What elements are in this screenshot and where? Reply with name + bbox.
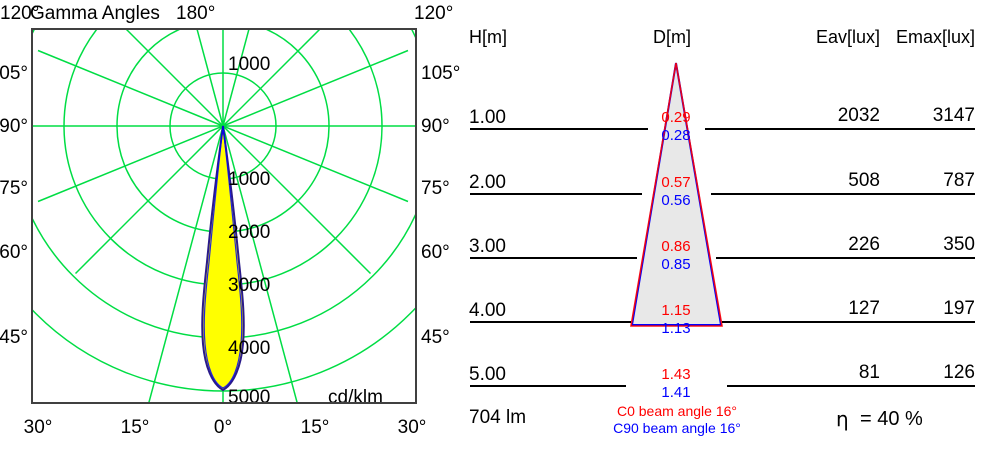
table-row-3-rule-left xyxy=(470,257,637,259)
polar-bottom-angle-15-right: 15° xyxy=(285,418,345,437)
table-row-1-rule-left xyxy=(470,128,648,130)
photometric-report: 120° Gamma Angles 180° 120° 105° 90° 75°… xyxy=(0,0,990,450)
polar-diagram-panel: 120° Gamma Angles 180° 120° 105° 90° 75°… xyxy=(0,0,455,450)
table-row-4-d-c0: 1.15 xyxy=(641,303,711,318)
table-row-2-eav: 508 xyxy=(800,171,880,190)
table-row-5-h: 5.00 xyxy=(469,365,506,384)
table-row-2-d-c0: 0.57 xyxy=(641,175,711,190)
polar-left-angle-60: 60° xyxy=(0,243,28,262)
polar-grid-svg xyxy=(33,30,415,402)
table-row-4-d-c90: 1.13 xyxy=(641,321,711,336)
polar-ring-label-5000: 5000 xyxy=(228,388,270,404)
table-row-3-d-c90: 0.85 xyxy=(641,257,711,272)
polar-top-center-angle-label: 180° xyxy=(176,4,215,23)
table-row-3-d-c0: 0.86 xyxy=(641,239,711,254)
table-row-1-d-c0: 0.29 xyxy=(641,110,711,125)
table-row-5-d-c0: 1.43 xyxy=(641,367,711,382)
polar-left-angle-45: 45° xyxy=(0,328,28,347)
polar-left-angle-75: 75° xyxy=(0,179,28,198)
efficiency-value: = 40 % xyxy=(860,409,923,429)
table-row-4-rule-right xyxy=(722,321,975,323)
polar-bottom-angle-15-left: 15° xyxy=(105,418,165,437)
cone-table-panel: H[m] D[m] Eav[lux] Emax[lux] 1.00 0.29 0… xyxy=(455,0,990,450)
efficiency-symbol: η xyxy=(836,409,849,429)
beam-angle-c0-label: C0 beam angle 16° xyxy=(527,404,827,418)
table-row-4-emax: 197 xyxy=(889,299,975,318)
table-row-3-rule-right xyxy=(716,257,975,259)
table-row-4-eav: 127 xyxy=(800,299,880,318)
polar-left-angle-90: 90° xyxy=(0,117,28,136)
table-row-3-eav: 226 xyxy=(800,235,880,254)
polar-bottom-angle-0: 0° xyxy=(193,418,253,437)
beam-angle-c90-label: C90 beam angle 16° xyxy=(527,421,827,435)
table-row-1-rule-right xyxy=(705,128,975,130)
table-row-5-rule-right xyxy=(727,385,975,387)
table-row-1-d-c90: 0.28 xyxy=(641,128,711,143)
table-row-2-h: 2.00 xyxy=(469,173,506,192)
table-row-3-emax: 350 xyxy=(889,235,975,254)
polar-ring-label-3000: 3000 xyxy=(228,276,270,295)
polar-bottom-angle-30-right: 30° xyxy=(382,418,442,437)
table-row-5-rule-left xyxy=(470,385,626,387)
table-row-2-emax: 787 xyxy=(889,171,975,190)
table-row-5-eav: 81 xyxy=(800,363,880,382)
polar-unit-label: cd/klm xyxy=(328,388,383,404)
polar-title: Gamma Angles xyxy=(30,4,160,23)
polar-left-angle-105: 105° xyxy=(0,64,28,83)
luminous-flux-value: 704 lm xyxy=(469,408,526,427)
table-row-3-h: 3.00 xyxy=(469,237,506,256)
table-row-1-eav: 2032 xyxy=(800,106,880,125)
table-row-2-d-c90: 0.56 xyxy=(641,193,711,208)
polar-ring-label-top-1000: 1000 xyxy=(228,55,270,74)
table-row-4-h: 4.00 xyxy=(469,301,506,320)
table-row-2-rule-right xyxy=(711,193,975,195)
table-row-5-d-c90: 1.41 xyxy=(641,385,711,400)
table-row-4-rule-left xyxy=(470,321,631,323)
polar-bottom-angle-30-left: 30° xyxy=(8,418,68,437)
table-row-2-rule-left xyxy=(470,193,642,195)
light-cone-svg xyxy=(455,0,990,450)
polar-ring-label-2000: 2000 xyxy=(228,223,270,242)
polar-ring-label-4000: 4000 xyxy=(228,339,270,358)
polar-ring-label-1000: 1000 xyxy=(228,170,270,189)
polar-top-right-angle-label: 120° xyxy=(414,4,453,23)
table-row-1-h: 1.00 xyxy=(469,108,506,127)
table-row-5-emax: 126 xyxy=(889,363,975,382)
table-row-1-emax: 3147 xyxy=(889,106,975,125)
polar-plot-frame: 1000 1000 2000 3000 4000 5000 cd/klm xyxy=(31,28,417,404)
